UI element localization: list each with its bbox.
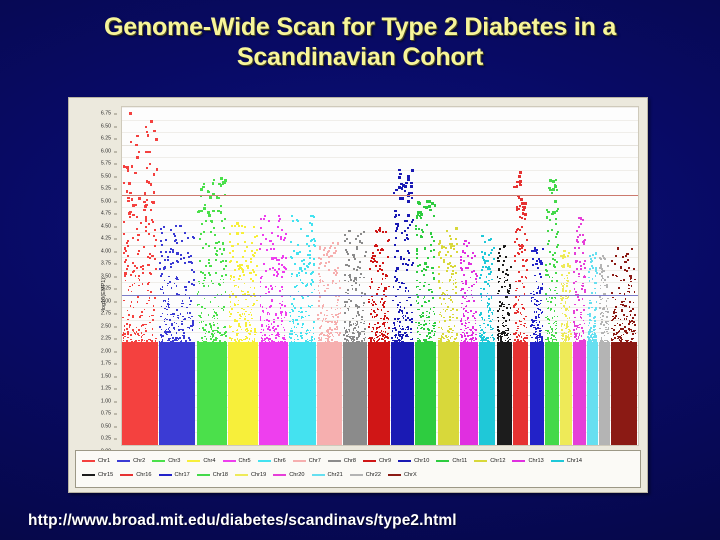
dense-point-block — [228, 342, 258, 445]
y-tick-label: 4.25 — [101, 237, 111, 242]
y-tick-mark — [114, 376, 117, 377]
legend-swatch — [82, 474, 95, 477]
legend-item-chr11[interactable]: Chr11 — [436, 458, 467, 464]
chromosome-band — [415, 107, 436, 445]
scatter-points — [259, 107, 287, 342]
legend-swatch — [273, 474, 286, 477]
y-tick-mark — [114, 176, 117, 177]
scatter-points — [228, 107, 258, 342]
title-line-1: Genome-Wide Scan for Type 2 Diabetes in … — [104, 13, 616, 41]
legend-swatch — [474, 460, 487, 463]
dense-point-block — [122, 342, 158, 445]
y-tick-mark — [114, 151, 117, 152]
y-tick-label: 5.75 — [101, 161, 111, 166]
legend-swatch — [187, 460, 200, 463]
scatter-points — [611, 107, 637, 342]
scatter-points — [317, 107, 342, 342]
legend-item-chr22[interactable]: Chr22 — [350, 472, 381, 478]
legend-swatch — [258, 460, 271, 463]
chromosome-band — [122, 107, 158, 445]
dense-point-block — [368, 342, 391, 445]
chromosome-band — [368, 107, 391, 445]
legend-item-chr10[interactable]: Chr10 — [398, 458, 429, 464]
y-tick-label: 1.75 — [101, 362, 111, 367]
legend-label: Chr16 — [136, 472, 151, 478]
legend-item-chr3[interactable]: Chr3 — [152, 458, 180, 464]
threshold-line-suggestive-linkage — [122, 295, 638, 296]
legend-swatch — [328, 460, 341, 463]
dense-point-block — [438, 342, 459, 445]
chromosome-band — [343, 107, 367, 445]
dense-point-block — [197, 342, 228, 445]
legend-swatch — [152, 460, 165, 463]
chromosome-band — [573, 107, 586, 445]
dense-point-block — [530, 342, 544, 445]
dense-point-block — [259, 342, 287, 445]
legend-item-chr18[interactable]: Chr18 — [197, 472, 228, 478]
dense-point-block — [545, 342, 559, 445]
scatter-points — [560, 107, 572, 342]
legend-label: Chr6 — [274, 458, 286, 464]
y-tick-label: 4.50 — [101, 224, 111, 229]
legend-label: Chr14 — [567, 458, 582, 464]
legend-swatch — [117, 460, 130, 463]
y-tick-label: 2.25 — [101, 337, 111, 342]
scatter-points — [599, 107, 610, 342]
y-tick-mark — [114, 126, 117, 127]
scatter-points — [343, 107, 367, 342]
dense-point-block — [289, 342, 316, 445]
dense-point-block — [611, 342, 637, 445]
legend-label: Chr7 — [309, 458, 321, 464]
y-tick-mark — [114, 139, 117, 140]
y-tick-label: 1.50 — [101, 374, 111, 379]
legend-swatch — [312, 474, 325, 477]
y-tick-label: 1.00 — [101, 399, 111, 404]
legend-swatch — [363, 460, 376, 463]
chromosome-band — [513, 107, 528, 445]
legend-swatch — [223, 460, 236, 463]
scatter-points — [368, 107, 391, 342]
legend-label: Chr5 — [239, 458, 251, 464]
scatter-points — [159, 107, 196, 342]
chromosome-band — [497, 107, 512, 445]
legend-swatch — [120, 474, 133, 477]
y-tick-label: 5.25 — [101, 187, 111, 192]
chromosome-band — [460, 107, 478, 445]
chromosome-band — [159, 107, 196, 445]
dense-point-block — [587, 342, 598, 445]
y-tick-mark — [114, 276, 117, 277]
dense-point-block — [513, 342, 528, 445]
title-line-2: Scandinavian Cohort — [0, 42, 720, 72]
scatter-points — [530, 107, 544, 342]
y-tick-mark — [114, 426, 117, 427]
y-tick-mark — [114, 164, 117, 165]
legend-label: Chr10 — [414, 458, 429, 464]
y-axis-ticks: 6.756.506.256.005.755.505.255.004.754.50… — [69, 106, 119, 446]
dense-point-block — [497, 342, 512, 445]
legend-label: Chr17 — [175, 472, 190, 478]
legend-item-chr5[interactable]: Chr5 — [223, 458, 251, 464]
y-tick-mark — [114, 401, 117, 402]
legend-item-chr9[interactable]: Chr9 — [363, 458, 391, 464]
scatter-points — [460, 107, 478, 342]
legend-item-chr7[interactable]: Chr7 — [293, 458, 321, 464]
y-tick-label: 5.50 — [101, 174, 111, 179]
scatter-points — [573, 107, 586, 342]
dense-point-block — [573, 342, 586, 445]
dense-point-block — [159, 342, 196, 445]
y-tick-label: 0.75 — [101, 412, 111, 417]
legend-item-chr20[interactable]: Chr20 — [273, 472, 304, 478]
slide-canvas: Genome-Wide Scan for Type 2 Diabetes in … — [0, 0, 720, 540]
y-tick-mark — [114, 301, 117, 302]
legend-label: Chr8 — [344, 458, 356, 464]
scatter-points — [587, 107, 598, 342]
gridline — [122, 445, 638, 446]
y-tick-label: 0.25 — [101, 437, 111, 442]
chromosome-band — [289, 107, 316, 445]
y-tick-label: 6.25 — [101, 136, 111, 141]
y-tick-mark — [114, 414, 117, 415]
y-tick-mark — [114, 251, 117, 252]
legend-item-chr17[interactable]: Chr17 — [159, 472, 190, 478]
scatter-points — [479, 107, 496, 342]
scatter-points — [497, 107, 512, 342]
legend-swatch — [82, 460, 95, 463]
y-tick-mark — [114, 339, 117, 340]
threshold-line-genome-wide-significance — [122, 195, 638, 196]
chromosome-band — [391, 107, 414, 445]
scatter-points — [415, 107, 436, 342]
chromosome-band — [560, 107, 572, 445]
y-tick-mark — [114, 239, 117, 240]
legend-item-chr8[interactable]: Chr8 — [328, 458, 356, 464]
y-tick-label: 4.75 — [101, 212, 111, 217]
legend-label: Chr1 — [98, 458, 110, 464]
dense-point-block — [415, 342, 436, 445]
legend-item-chrx[interactable]: ChrX — [388, 472, 417, 478]
legend-swatch — [398, 460, 411, 463]
y-tick-mark — [114, 364, 117, 365]
legend-label: Chr22 — [366, 472, 381, 478]
legend-swatch — [159, 474, 172, 477]
scatter-points — [545, 107, 559, 342]
legend-item-chr12[interactable]: Chr12 — [474, 458, 505, 464]
legend-item-chr6[interactable]: Chr6 — [258, 458, 286, 464]
legend-label: Chr18 — [213, 472, 228, 478]
legend-item-chr1[interactable]: Chr1 — [82, 458, 110, 464]
dense-point-block — [343, 342, 367, 445]
y-tick-label: 3.25 — [101, 287, 111, 292]
scatter-points — [289, 107, 316, 342]
y-tick-mark — [114, 439, 117, 440]
y-tick-label: 0.50 — [101, 424, 111, 429]
chromosome-legend: Chr1Chr2Chr3Chr4Chr5Chr6Chr7Chr8Chr9Chr1… — [75, 450, 641, 488]
legend-label: Chr2 — [133, 458, 145, 464]
y-tick-mark — [114, 201, 117, 202]
y-tick-label: 2.50 — [101, 324, 111, 329]
y-tick-label: 6.75 — [101, 111, 111, 116]
y-tick-label: 3.00 — [101, 299, 111, 304]
legend-row-2: Chr15Chr16Chr17Chr18Chr19Chr20Chr21Chr22… — [82, 468, 634, 482]
legend-swatch — [436, 460, 449, 463]
chromosome-band — [197, 107, 228, 445]
chromosome-band — [587, 107, 598, 445]
legend-label: Chr12 — [490, 458, 505, 464]
y-tick-label: 6.50 — [101, 124, 111, 129]
legend-swatch — [293, 460, 306, 463]
scatter-points — [391, 107, 414, 342]
y-tick-mark — [114, 189, 117, 190]
chromosome-band — [479, 107, 496, 445]
legend-label: Chr9 — [379, 458, 391, 464]
legend-item-chr13[interactable]: Chr13 — [512, 458, 543, 464]
legend-label: Chr13 — [528, 458, 543, 464]
legend-label: Chr3 — [168, 458, 180, 464]
legend-swatch — [551, 460, 564, 463]
chromosome-band — [530, 107, 544, 445]
chromosome-band — [545, 107, 559, 445]
chromosome-band — [228, 107, 258, 445]
legend-item-chr4[interactable]: Chr4 — [187, 458, 215, 464]
page-title: Genome-Wide Scan for Type 2 Diabetes in … — [0, 12, 720, 72]
scatter-points — [122, 107, 158, 342]
legend-item-chr21[interactable]: Chr21 — [312, 472, 343, 478]
y-tick-mark — [114, 264, 117, 265]
y-tick-label: 5.00 — [101, 199, 111, 204]
legend-swatch — [388, 474, 401, 477]
chromosome-band — [599, 107, 610, 445]
plot-area — [121, 106, 639, 446]
dense-point-block — [391, 342, 414, 445]
legend-row-1: Chr1Chr2Chr3Chr4Chr5Chr6Chr7Chr8Chr9Chr1… — [82, 454, 634, 468]
legend-swatch — [235, 474, 248, 477]
y-tick-mark — [114, 114, 117, 115]
chromosome-band — [438, 107, 459, 445]
chromosome-band — [317, 107, 342, 445]
y-tick-mark — [114, 314, 117, 315]
y-tick-label: 1.25 — [101, 387, 111, 392]
legend-label: Chr20 — [289, 472, 304, 478]
dense-point-block — [460, 342, 478, 445]
dense-point-block — [599, 342, 610, 445]
legend-label: ChrX — [404, 472, 417, 478]
legend-swatch — [350, 474, 363, 477]
y-tick-mark — [114, 214, 117, 215]
y-tick-mark — [114, 226, 117, 227]
legend-label: Chr11 — [452, 458, 467, 464]
y-tick-label: 6.00 — [101, 149, 111, 154]
scatter-points — [438, 107, 459, 342]
y-tick-label: 2.75 — [101, 312, 111, 317]
legend-label: Chr15 — [98, 472, 113, 478]
legend-swatch — [197, 474, 210, 477]
dense-point-block — [479, 342, 496, 445]
y-tick-label: 3.50 — [101, 274, 111, 279]
manhattan-plot-panel: -log10(EMP1) 6.756.506.256.005.755.505.2… — [68, 97, 648, 493]
legend-item-chr16[interactable]: Chr16 — [120, 472, 151, 478]
legend-label: Chr19 — [251, 472, 266, 478]
legend-item-chr14[interactable]: Chr14 — [551, 458, 582, 464]
legend-swatch — [512, 460, 525, 463]
chromosome-band — [259, 107, 287, 445]
y-tick-label: 4.00 — [101, 249, 111, 254]
y-tick-label: 2.00 — [101, 349, 111, 354]
source-url[interactable]: http://www.broad.mit.edu/diabetes/scandi… — [28, 512, 457, 530]
y-tick-mark — [114, 389, 117, 390]
legend-item-chr2[interactable]: Chr2 — [117, 458, 145, 464]
y-tick-mark — [114, 351, 117, 352]
legend-label: Chr21 — [328, 472, 343, 478]
y-tick-label: 3.75 — [101, 262, 111, 267]
legend-item-chr15[interactable]: Chr15 — [82, 472, 113, 478]
chromosome-band — [611, 107, 637, 445]
scatter-points — [197, 107, 228, 342]
dense-point-block — [317, 342, 342, 445]
y-tick-mark — [114, 289, 117, 290]
legend-label: Chr4 — [203, 458, 215, 464]
y-tick-mark — [114, 326, 117, 327]
dense-point-block — [560, 342, 572, 445]
scatter-points — [513, 107, 528, 342]
legend-item-chr19[interactable]: Chr19 — [235, 472, 266, 478]
